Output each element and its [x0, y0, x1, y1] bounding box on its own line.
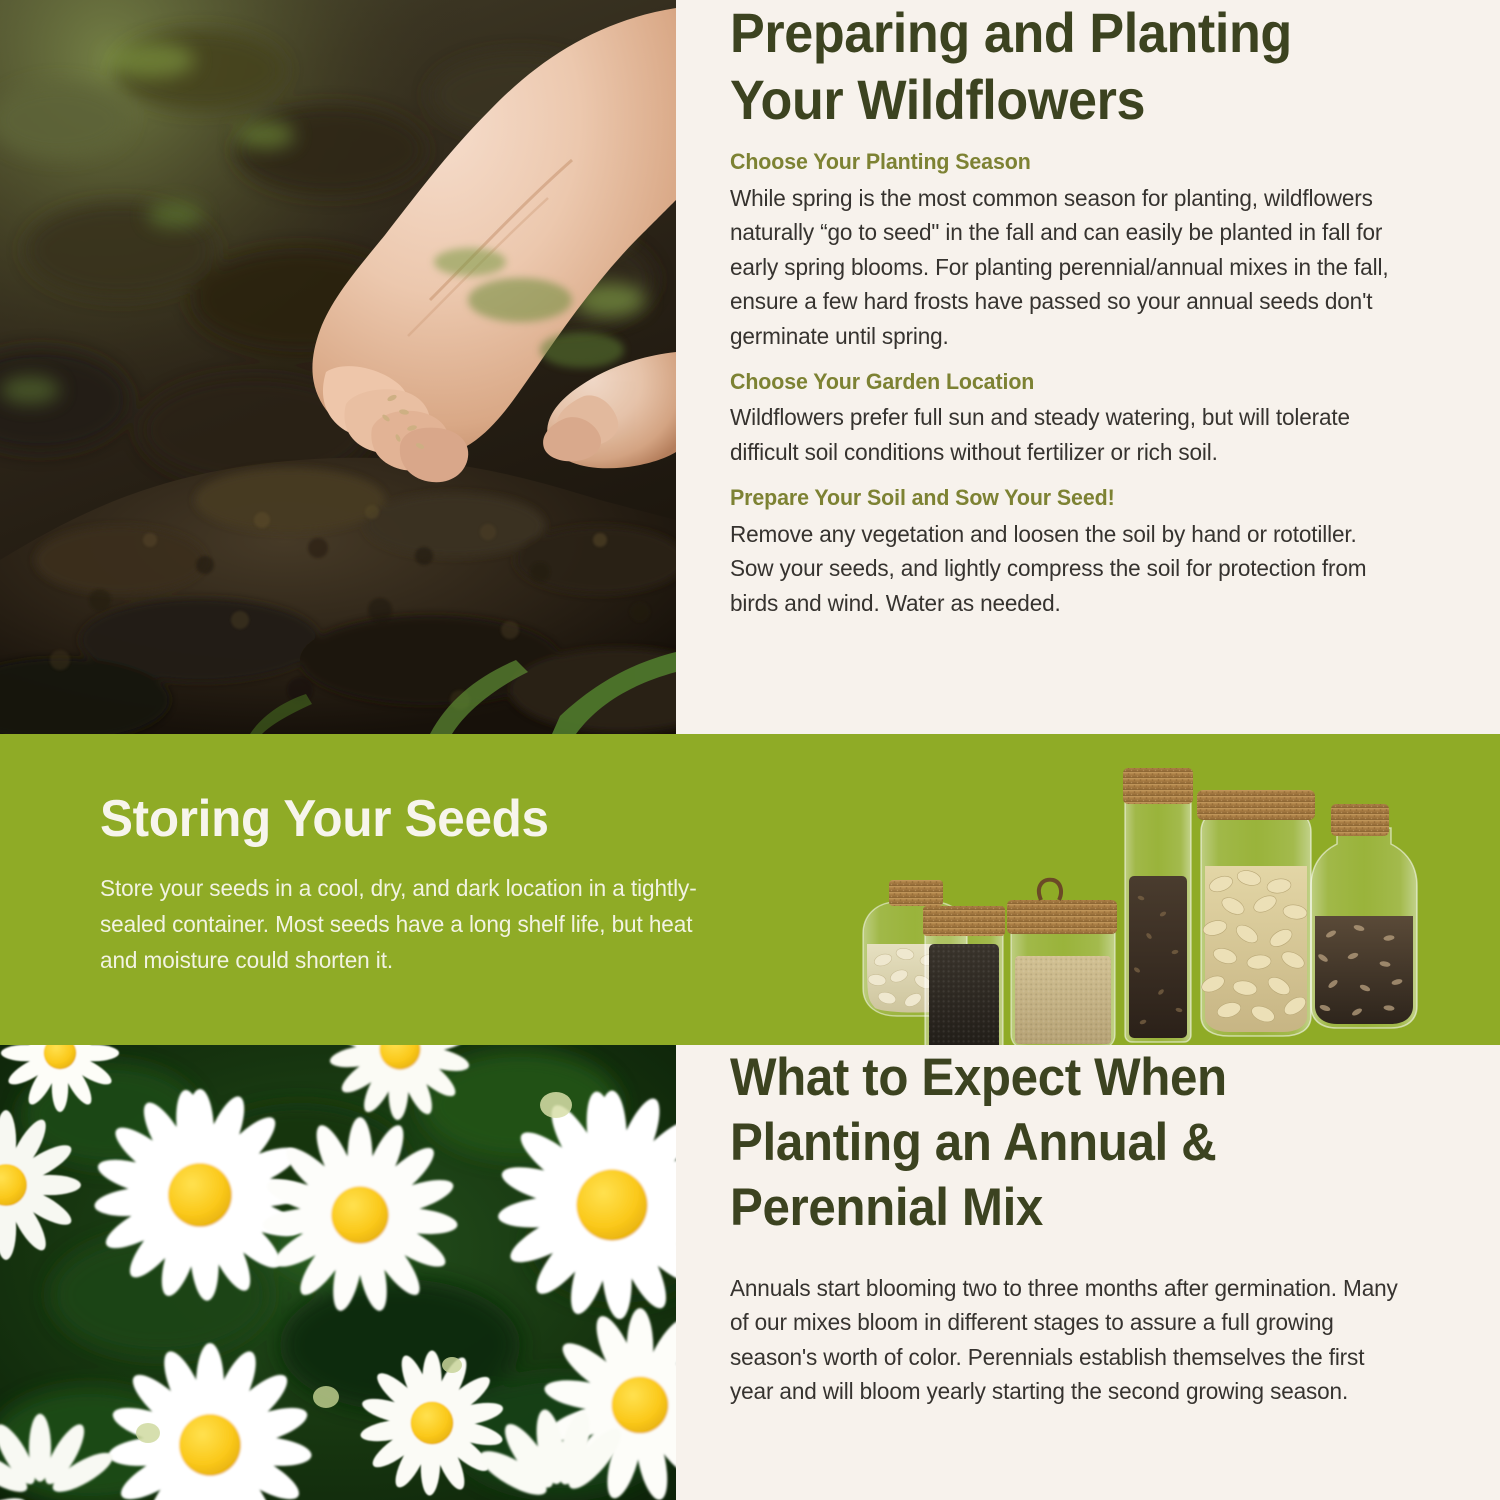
- cork-lid: [1123, 768, 1193, 804]
- cork-lid: [889, 880, 943, 906]
- storing-text-block: Storing Your Seeds Store your seeds in a…: [100, 792, 740, 978]
- daisies-photo: [0, 1045, 676, 1500]
- jar-sunflower-seeds: [1311, 804, 1417, 1028]
- spacer: [730, 353, 1430, 367]
- storing-title: Storing Your Seeds: [100, 792, 708, 847]
- what-to-expect-section: What to Expect When Planting an Annual &…: [0, 1045, 1500, 1500]
- cork-lid: [923, 906, 1005, 936]
- spacer: [730, 469, 1430, 483]
- what-to-expect-text-column: What to Expect When Planting an Annual &…: [730, 1045, 1430, 1409]
- cork-lid: [1331, 804, 1389, 836]
- storing-body: Store your seeds in a cool, dry, and dar…: [100, 871, 714, 978]
- storing-your-seeds-section: Storing Your Seeds Store your seeds in a…: [0, 734, 1500, 1045]
- infographic-page: Preparing and Planting Your Wildflowers …: [0, 0, 1500, 1500]
- body-planting-season: While spring is the most common season f…: [730, 181, 1402, 354]
- jar-dark-speckled-seeds: [1123, 768, 1193, 1042]
- preparing-and-planting-section: Preparing and Planting Your Wildflowers …: [0, 0, 1500, 734]
- page-title-line-1: Preparing and Planting: [730, 1, 1292, 64]
- expect-title-line-1: What to Expect When: [730, 1048, 1227, 1107]
- seed-jars-photo: [845, 748, 1445, 1045]
- expect-title-line-2: Planting an Annual &: [730, 1113, 1216, 1172]
- expect-body: Annuals start blooming two to three mont…: [730, 1271, 1402, 1409]
- subheading-prepare-soil: Prepare Your Soil and Sow Your Seed!: [730, 483, 1395, 512]
- jar-pumpkin-seeds: [1197, 790, 1315, 1036]
- jar-black-seeds: [923, 906, 1005, 1045]
- cork-lid: [1007, 900, 1117, 934]
- daisies-photo-svg: [0, 1045, 676, 1500]
- subheading-garden-location: Choose Your Garden Location: [730, 367, 1395, 396]
- subheading-planting-season: Choose Your Planting Season: [730, 147, 1395, 176]
- expect-title: What to Expect When Planting an Annual &…: [730, 1045, 1381, 1241]
- expect-title-line-3: Perennial Mix: [730, 1178, 1043, 1237]
- soil-sowing-photo: [0, 0, 676, 734]
- cork-lid: [1197, 790, 1315, 820]
- soil-photo-svg: [0, 0, 676, 734]
- jar-millet-seeds: [1007, 880, 1117, 1045]
- page-title: Preparing and Planting Your Wildflowers: [730, 0, 1381, 133]
- body-garden-location: Wildflowers prefer full sun and steady w…: [730, 400, 1402, 469]
- spacer: [730, 133, 1430, 147]
- spacer: [730, 1241, 1430, 1271]
- seed-jars-svg: [845, 748, 1445, 1045]
- preparing-text-column: Preparing and Planting Your Wildflowers …: [730, 0, 1430, 734]
- wire-clasp: [1039, 880, 1061, 900]
- body-prepare-soil: Remove any vegetation and loosen the soi…: [730, 517, 1402, 621]
- page-title-line-2: Your Wildflowers: [730, 68, 1145, 131]
